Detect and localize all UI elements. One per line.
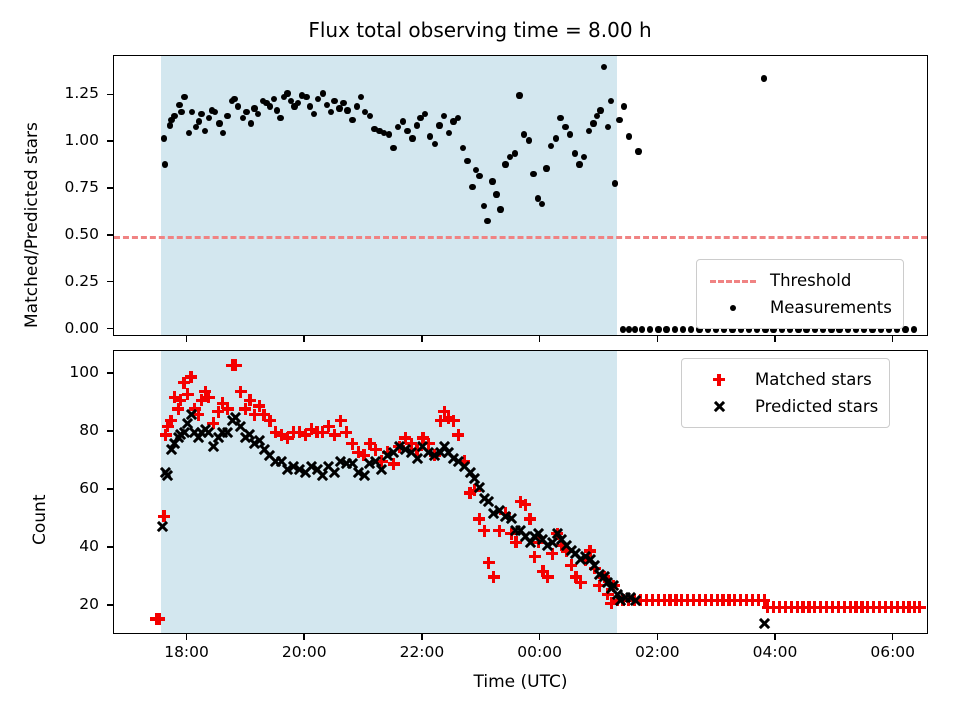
data-point — [206, 115, 212, 121]
x-tick-mark-top — [421, 336, 423, 342]
data-point — [267, 103, 273, 109]
legend-entry-measurements: Measurements — [708, 294, 892, 321]
data-point — [216, 120, 222, 126]
x-tick-mark-bottom — [186, 634, 188, 640]
data-point — [460, 145, 466, 151]
data-point — [167, 122, 173, 128]
data-point — [320, 90, 326, 96]
data-point — [626, 133, 632, 139]
y-tick-label: 60 — [41, 481, 99, 497]
x-tick-mark-bottom — [303, 634, 305, 640]
data-point — [489, 178, 495, 184]
data-point — [493, 191, 499, 197]
data-point — [502, 161, 508, 167]
point-marker-icon — [708, 298, 760, 318]
x-tick-mark-top — [657, 336, 659, 342]
data-point — [196, 118, 202, 124]
data-point — [331, 98, 337, 104]
x-tick-mark-top — [892, 336, 894, 342]
legend-count-panel: Matched stars Predicted stars — [681, 358, 890, 428]
data-point — [512, 150, 518, 156]
data-point — [484, 218, 490, 224]
dashed-line-icon — [708, 271, 760, 291]
chart-title: Flux total observing time = 8.00 h — [0, 18, 960, 42]
data-point — [557, 115, 563, 121]
data-point — [597, 107, 603, 113]
data-point — [336, 105, 342, 111]
data-point — [567, 131, 573, 137]
data-point — [530, 171, 536, 177]
x-tick-mark-top — [539, 336, 541, 342]
data-point — [404, 128, 410, 134]
y-tick-mark — [107, 140, 113, 142]
data-point — [390, 145, 396, 151]
data-point — [277, 115, 283, 121]
data-point — [911, 326, 917, 332]
x-tick-mark-top — [774, 336, 776, 342]
data-point — [340, 100, 346, 106]
x-tick-mark-bottom — [774, 634, 776, 640]
y-tick-mark — [107, 234, 113, 236]
y-tick-label: 1.00 — [41, 133, 99, 149]
data-point — [576, 161, 582, 167]
data-point — [621, 103, 627, 109]
y-tick-label: 100 — [41, 365, 99, 381]
legend-label-matched: Matched stars — [745, 370, 872, 389]
data-point — [572, 150, 578, 156]
y-tick-mark — [107, 372, 113, 374]
data-point — [414, 122, 420, 128]
y-tick-mark — [107, 187, 113, 189]
x-tick-mark-bottom — [657, 634, 659, 640]
data-point — [464, 158, 470, 164]
y-tick-label: 0.75 — [41, 180, 99, 196]
y-tick-mark — [107, 488, 113, 490]
data-point — [590, 120, 596, 126]
x-marker-icon — [693, 397, 745, 417]
y-tick-label: 80 — [41, 423, 99, 439]
y-tick-mark — [107, 94, 113, 96]
data-point — [176, 102, 182, 108]
y-axis-label-top: Matched/Predicted stars — [22, 122, 42, 328]
x-tick-mark-bottom — [892, 634, 894, 640]
x-tick-label: 22:00 — [387, 645, 457, 661]
data-point — [274, 107, 280, 113]
data-point — [635, 148, 641, 154]
figure-canvas: Flux total observing time = 8.00 h Match… — [0, 0, 960, 720]
x-tick-label: 02:00 — [622, 645, 692, 661]
y-tick-mark — [107, 604, 113, 606]
data-point — [680, 326, 686, 332]
data-point — [476, 173, 482, 179]
data-point — [543, 165, 549, 171]
legend-entry-matched: Matched stars — [693, 366, 878, 393]
data-point — [469, 184, 475, 190]
data-point — [349, 117, 355, 123]
x-tick-mark-bottom — [421, 634, 423, 640]
data-point — [409, 135, 415, 141]
data-point — [198, 111, 204, 117]
x-tick-mark-top — [186, 336, 188, 342]
data-point — [497, 206, 503, 212]
legend-ratio-panel: Threshold Measurements — [696, 259, 904, 329]
data-point — [553, 135, 559, 141]
data-point — [324, 102, 330, 108]
data-point — [516, 92, 522, 98]
data-point — [612, 180, 618, 186]
y-tick-mark — [107, 328, 113, 330]
x-tick-mark-bottom — [539, 634, 541, 640]
y-tick-label: 0.00 — [41, 321, 99, 337]
data-point — [248, 120, 254, 126]
plus-marker-icon — [693, 370, 745, 390]
y-tick-mark — [107, 546, 113, 548]
data-point — [307, 103, 313, 109]
x-axis-label: Time (UTC) — [113, 672, 928, 692]
legend-label-predicted: Predicted stars — [745, 397, 878, 416]
y-axis-label-bottom: Count — [30, 495, 50, 546]
data-point — [632, 326, 638, 332]
x-tick-mark-top — [303, 336, 305, 342]
data-point — [240, 115, 246, 121]
legend-entry-threshold: Threshold — [708, 267, 892, 294]
data-point — [639, 326, 645, 332]
data-point — [761, 75, 767, 81]
data-point — [432, 141, 438, 147]
data-point — [344, 107, 350, 113]
y-tick-label: 0.25 — [41, 274, 99, 290]
y-tick-label: 1.25 — [41, 86, 99, 102]
x-tick-label: 00:00 — [505, 645, 575, 661]
y-tick-label: 0.50 — [41, 227, 99, 243]
x-tick-label: 18:00 — [152, 645, 222, 661]
data-point — [386, 131, 392, 137]
data-point — [243, 109, 249, 115]
data-point — [400, 118, 406, 124]
y-tick-mark — [107, 430, 113, 432]
data-point — [161, 135, 167, 141]
data-point — [186, 130, 192, 136]
data-point — [284, 90, 290, 96]
legend-label-threshold: Threshold — [760, 271, 851, 290]
data-point — [171, 113, 177, 119]
data-point — [672, 326, 678, 332]
data-point — [562, 124, 568, 130]
data-point — [688, 326, 694, 332]
x-tick-label: 04:00 — [740, 645, 810, 661]
x-tick-label: 20:00 — [269, 645, 339, 661]
y-tick-mark — [107, 281, 113, 283]
y-tick-label: 20 — [41, 597, 99, 613]
data-point — [616, 117, 622, 123]
data-point — [655, 326, 661, 332]
data-point — [526, 137, 532, 143]
y-tick-label: 40 — [41, 539, 99, 555]
legend-entry-predicted: Predicted stars — [693, 393, 878, 420]
data-point — [436, 122, 442, 128]
data-point — [303, 94, 309, 100]
data-point — [446, 130, 452, 136]
data-point — [220, 130, 226, 136]
data-point — [647, 326, 653, 332]
legend-label-measurements: Measurements — [760, 298, 892, 317]
data-point — [427, 133, 433, 139]
data-point — [231, 96, 237, 102]
data-point — [663, 326, 669, 332]
threshold-line — [114, 236, 927, 239]
shaded-observing-window — [161, 351, 617, 633]
data-point — [354, 103, 360, 109]
data-point — [224, 113, 230, 119]
x-tick-label: 06:00 — [858, 645, 928, 661]
